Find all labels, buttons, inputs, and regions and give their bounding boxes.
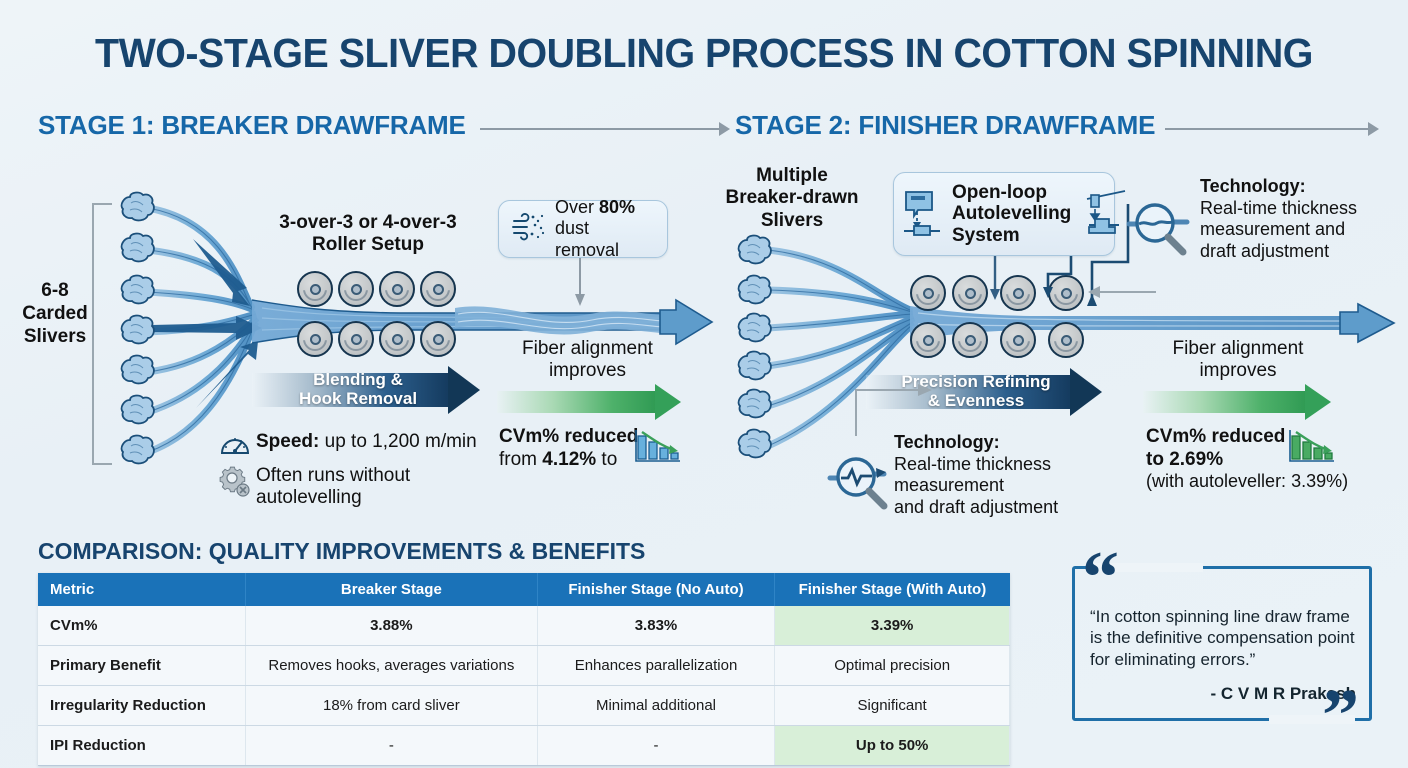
carded-slivers-line-3: Slivers (22, 326, 88, 349)
technology-right-title: Technology: (1200, 176, 1390, 198)
comparison-title: COMPARISON: QUALITY IMPROVEMENTS & BENEF… (38, 538, 645, 565)
cotton-sliver-icon (118, 231, 156, 265)
comparison-table: Metric Breaker Stage Finisher Stage (No … (38, 573, 1010, 766)
fiber-alignment-1-line-1: Fiber alignment (500, 338, 675, 360)
bar-chart-decline-icon (634, 426, 680, 473)
cvm-reduction-label-2: CVm% reduced to 2.69% (with autoleveller… (1146, 425, 1386, 493)
table-header-row: Metric Breaker Stage Finisher Stage (No … (38, 573, 1010, 606)
cell-finisher-with-auto: Optimal precision (775, 646, 1010, 686)
dust-removal-badge: Over 80% dust removal (498, 200, 668, 258)
roller2-bottom-3 (1000, 322, 1036, 358)
table-row: IPI Reduction - - Up to 50% (38, 726, 1010, 766)
stage-flow-arrow-1 (480, 122, 730, 136)
cell-breaker: 3.88% (245, 606, 537, 646)
speed-label: Speed: (256, 431, 319, 452)
cell-finisher-with-auto: Significant (775, 686, 1010, 726)
magnifier-signal-icon (828, 450, 894, 517)
roller-bottom-1 (297, 321, 333, 357)
bar-chart-decline-icon (1288, 426, 1334, 473)
quote-open-icon: “ (1082, 552, 1119, 604)
fiber-alignment-2-line-2: improves (1148, 360, 1328, 382)
multiple-breaker-slivers-label: Multiple Breaker-drawn Slivers (722, 165, 862, 232)
cotton-sliver-icon (735, 387, 773, 421)
roller-setup-line-1: 3-over-3 or 4-over-3 (262, 212, 474, 234)
roller-top-4 (420, 271, 456, 307)
cell-finisher-with-auto: Up to 50% (775, 726, 1010, 766)
cell-metric: CVm% (38, 606, 245, 646)
speed-value: up to 1,200 m/min (319, 431, 476, 452)
quote-close-icon: ” (1322, 690, 1359, 742)
cvm-reduction-label-1: CVm% reduced from 4.12% to (499, 425, 649, 471)
cvm-2-line-3: (with autoleveller: 3.39%) (1146, 471, 1386, 493)
roller-top-3 (379, 271, 415, 307)
fiber-alignment-2-line-1: Fiber alignment (1148, 338, 1328, 360)
roller-feedback-arrow (1086, 282, 1158, 302)
cvm-2-line-2: to 2.69% (1146, 448, 1386, 471)
carded-slivers-label: 6-8 Carded Slivers (22, 280, 88, 348)
quality-improvement-arrow-2 (1143, 384, 1333, 420)
col-header-breaker: Breaker Stage (245, 573, 537, 606)
stage-flow-arrow-2 (1165, 122, 1380, 136)
autolevelling-note: Often runs without autolevelling (256, 465, 496, 510)
cotton-sliver-icon (118, 190, 156, 224)
cell-finisher-no-auto: 3.83% (537, 606, 775, 646)
fiber-alignment-label-1: Fiber alignment improves (500, 338, 675, 382)
blending-arrow-line-1: Blending & (313, 370, 403, 389)
roller-setup-label: 3-over-3 or 4-over-3 Roller Setup (262, 212, 474, 256)
roller2-bottom-4 (1048, 322, 1084, 358)
cotton-sliver-icon (735, 427, 773, 461)
roller2-top-1 (910, 275, 946, 311)
speedometer-icon (220, 432, 250, 461)
cvm-1-line-1: CVm% reduced (499, 425, 649, 448)
cotton-sliver-icon (118, 273, 156, 307)
quote-author: - C V M R Prakash (1090, 684, 1356, 704)
autolevel-line-3: System (952, 225, 1020, 246)
gear-off-icon (218, 464, 252, 503)
speed-note: Speed: up to 1,200 m/min (256, 431, 506, 453)
dust-badge-connector (575, 258, 589, 310)
cotton-sliver-icon (735, 311, 773, 345)
col-header-metric: Metric (38, 573, 245, 606)
cotton-sliver-icon (118, 433, 156, 467)
carded-slivers-line-1: 6-8 (22, 280, 88, 303)
col-header-finisher-no-auto: Finisher Stage (No Auto) (537, 573, 775, 606)
roller-bottom-2 (338, 321, 374, 357)
blending-arrow-line-2: Hook Removal (299, 389, 417, 408)
cvm-1-suffix: to (596, 449, 617, 470)
roller-bottom-4 (420, 321, 456, 357)
cotton-sliver-icon (735, 233, 773, 267)
table-row: Irregularity Reduction 18% from card sli… (38, 686, 1010, 726)
technology-right-line-1: Real-time thickness (1200, 198, 1390, 220)
input-bracket (92, 203, 112, 465)
stage-1-heading: STAGE 1: BREAKER DRAWFRAME (38, 110, 466, 141)
dust-wind-icon (511, 212, 545, 247)
technology-note-bottom: Technology: Real-time thickness measurem… (894, 432, 1124, 518)
stage-2-heading: STAGE 2: FINISHER DRAWFRAME (735, 110, 1155, 141)
cotton-sliver-icon (735, 349, 773, 383)
technology-bottom-line-1: Real-time thickness (894, 454, 1124, 476)
autolevel-line-2: Autolevelling (952, 203, 1071, 224)
table-row: CVm% 3.88% 3.83% 3.39% (38, 606, 1010, 646)
cotton-sliver-icon (118, 393, 156, 427)
multiple-slivers-line-3: Slivers (722, 210, 862, 232)
blending-hook-removal-arrow: Blending & Hook Removal (252, 366, 482, 414)
autolevelling-box-text: Open-loop Autolevelling System (952, 182, 1071, 247)
cell-finisher-no-auto: Minimal additional (537, 686, 775, 726)
fiber-alignment-1-line-2: improves (500, 360, 675, 382)
roller2-bottom-2 (952, 322, 988, 358)
cvm-1-value: 4.12% (542, 449, 596, 470)
cell-breaker: Removes hooks, averages variations (245, 646, 537, 686)
roller-top-1 (297, 271, 333, 307)
quality-improvement-arrow-1 (497, 384, 682, 420)
magnifier-thickness-icon (1127, 196, 1193, 263)
cotton-sliver-icon (118, 353, 156, 387)
precision-arrow-line-2: & Evenness (928, 391, 1024, 410)
carded-slivers-line-2: Carded (22, 303, 88, 326)
dust-removal-suffix: dust removal (555, 218, 619, 260)
roller2-top-2 (952, 275, 988, 311)
table-row: Primary Benefit Removes hooks, averages … (38, 646, 1010, 686)
bottom-tech-connector (848, 350, 938, 440)
autolevelling-note-line-1: Often runs without (256, 465, 496, 487)
technology-bottom-title: Technology: (894, 432, 1124, 454)
cell-finisher-no-auto: - (537, 726, 775, 766)
dust-removal-prefix: Over (555, 197, 599, 217)
roller-top-2 (338, 271, 374, 307)
autolevel-line-1: Open-loop (952, 182, 1047, 203)
technology-bottom-line-3: and draft adjustment (894, 497, 1124, 519)
cvm-2-line-1: CVm% reduced (1146, 425, 1386, 448)
cvm-1-line-2: from 4.12% to (499, 448, 649, 471)
cotton-sliver-icon (118, 313, 156, 347)
roller-setup-line-2: Roller Setup (262, 234, 474, 256)
cell-finisher-with-auto: 3.39% (775, 606, 1010, 646)
cell-breaker: 18% from card sliver (245, 686, 537, 726)
technology-bottom-line-2: measurement (894, 475, 1124, 497)
page-title: TWO-STAGE SLIVER DOUBLING PROCESS IN COT… (28, 30, 1380, 77)
dust-removal-value: 80% (599, 197, 635, 217)
technology-note-right: Technology: Real-time thickness measurem… (1200, 176, 1390, 262)
cell-metric: IPI Reduction (38, 726, 245, 766)
autolevelling-note-line-2: autolevelling (256, 487, 496, 509)
control-unit-icon (902, 186, 942, 243)
cotton-sliver-icon (735, 273, 773, 307)
multiple-slivers-line-1: Multiple (722, 165, 862, 187)
technology-right-line-2: measurement and (1200, 219, 1390, 241)
dust-removal-text: Over 80% dust removal (555, 197, 655, 262)
cell-breaker: - (245, 726, 537, 766)
fiber-alignment-label-2: Fiber alignment improves (1148, 338, 1328, 382)
cell-metric: Irregularity Reduction (38, 686, 245, 726)
technology-right-line-3: draft adjustment (1200, 241, 1390, 263)
multiple-slivers-line-2: Breaker-drawn (722, 187, 862, 209)
cell-metric: Primary Benefit (38, 646, 245, 686)
cell-finisher-no-auto: Enhances parallelization (537, 646, 775, 686)
roller-bottom-3 (379, 321, 415, 357)
quote-text: “In cotton spinning line draw frame is t… (1090, 606, 1366, 670)
col-header-finisher-with-auto: Finisher Stage (With Auto) (775, 573, 1010, 606)
